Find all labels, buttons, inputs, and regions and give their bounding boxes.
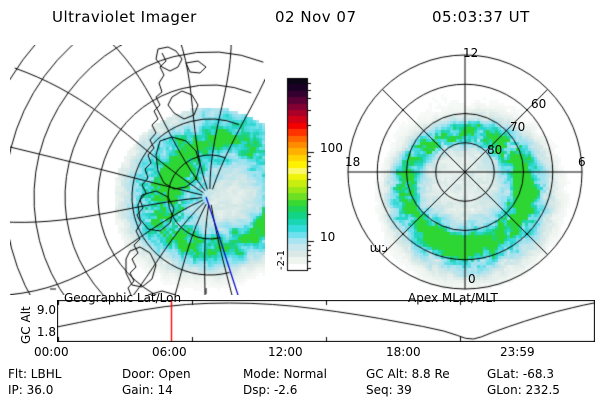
orbit-xtick-4: 23:59 [500,345,535,359]
status-glat: GLat: -68.3 [487,367,554,381]
instrument-title: Ultraviolet Imager [52,8,197,26]
header-bar: Ultraviolet Imager 02 Nov 07 05:03:37 UT [0,8,600,32]
mlt-label-dusk: 18 [345,155,360,169]
status-dsp: Dsp: -2.6 [243,383,297,397]
status-glon: GLon: 232.5 [487,383,560,397]
orbit-xtick-1: 06:00 [152,345,187,359]
mlt-label-dawn: 6 [578,155,586,169]
mlat-ring-label-80: 80 [487,143,502,157]
mlt-label-noon: 12 [463,46,478,60]
colorbar-axis-title: photon cm-2s-1 [262,112,280,272]
colorbar-exp-2: -1 [276,250,287,260]
status-gain: Gain: 14 [122,383,173,397]
geographic-image-panel [10,45,265,295]
observation-time: 05:03:37 UT [432,8,530,26]
status-gc-alt: GC Alt: 8.8 Re [366,367,450,381]
colorbar-tick-10: 10 [320,230,335,244]
mlat-ring-label-60: 60 [531,97,546,111]
orbit-xtick-3: 18:00 [386,345,421,359]
orbit-ytick-low: 1.8 [22,325,56,339]
orbit-xtick-2: 12:00 [268,345,303,359]
status-ip: IP: 36.0 [8,383,53,397]
orbit-ytick-high: 9.0 [22,303,56,317]
orbit-xtick-0: 00:00 [34,345,69,359]
orbit-altitude-plot [57,300,595,342]
status-filter: Flt: LBHL [8,367,61,381]
status-door: Door: Open [122,367,191,381]
mlt-label-midnight: 0 [468,272,476,286]
mlat-ring-label-70: 70 [510,120,525,134]
apex-mlat-mlt-panel [335,45,600,295]
colorbar-exp-1: -2 [276,260,287,270]
status-seq: Seq: 39 [366,383,412,397]
observation-date: 02 Nov 07 [275,8,357,26]
orbit-y-axis-title: GC Alt [6,300,22,344]
status-mode: Mode: Normal [243,367,327,381]
